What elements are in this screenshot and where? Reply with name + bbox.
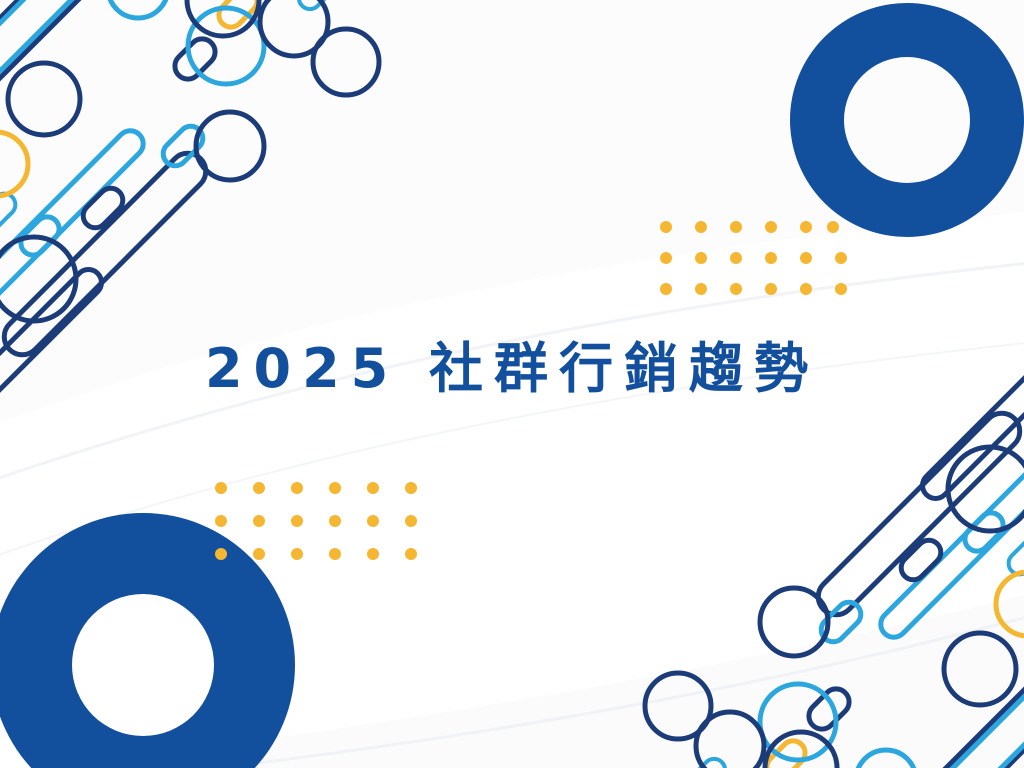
dot-over-ring-top-right — [827, 221, 839, 233]
title-slide: 2025 社群行銷趨勢 — [0, 0, 1024, 768]
solid-ring-layer — [0, 0, 1024, 768]
dot-over-ring-bottom-left — [215, 548, 227, 560]
ring-bottom-left — [0, 0, 1024, 768]
